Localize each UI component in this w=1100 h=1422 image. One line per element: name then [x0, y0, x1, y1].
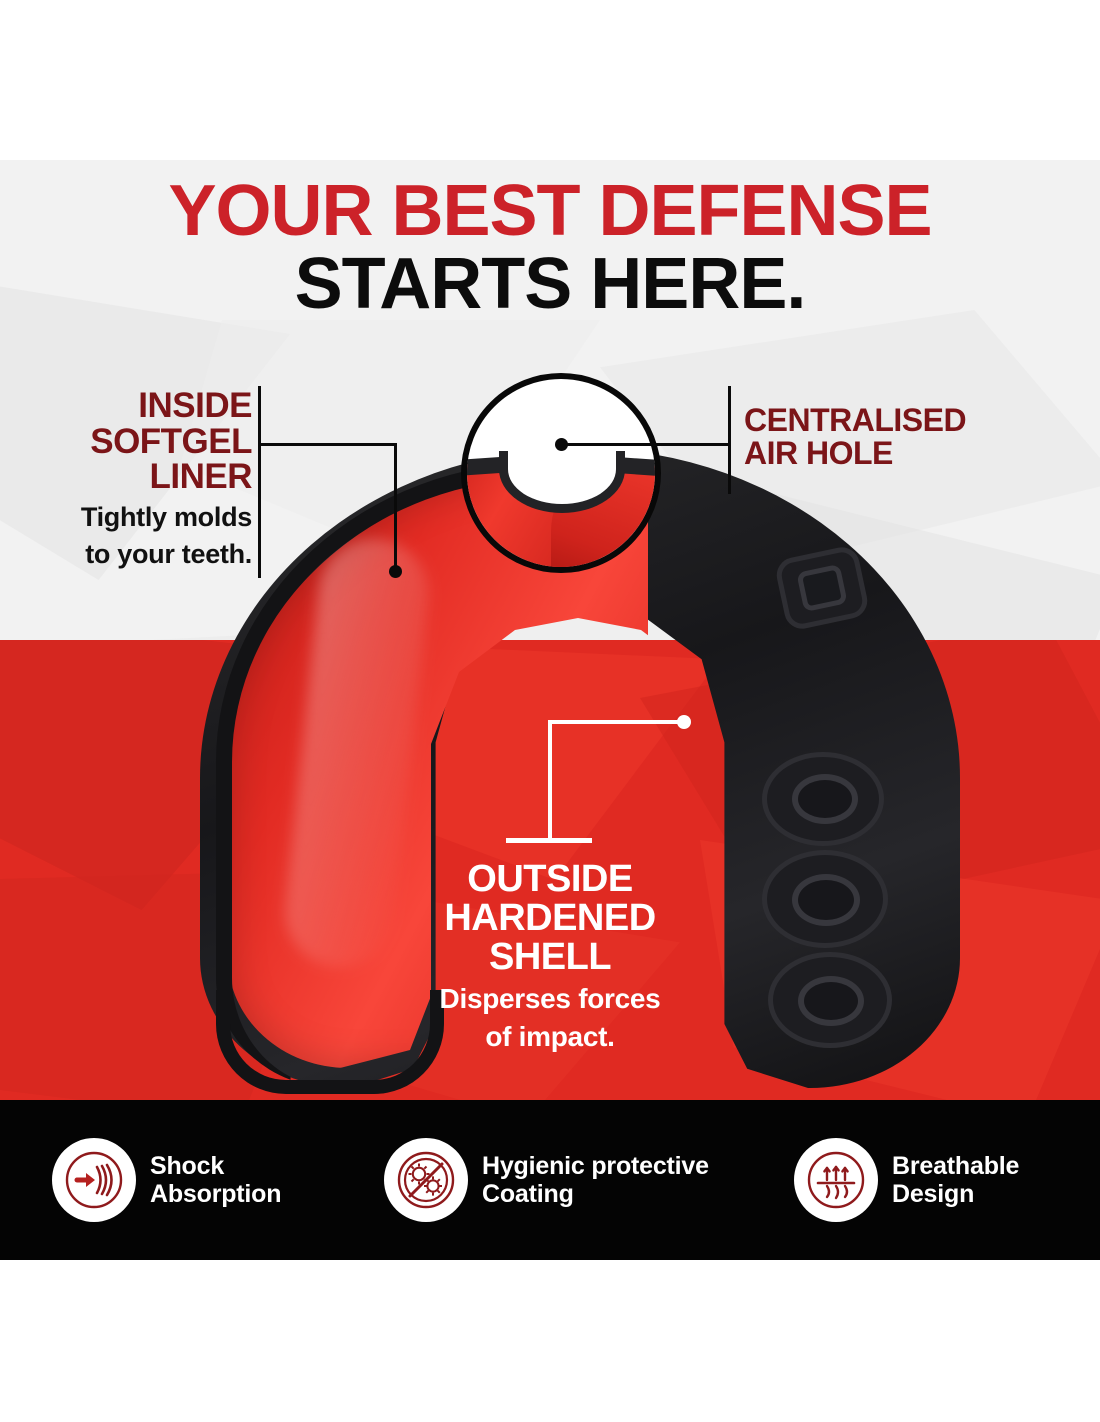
headline: YOUR BEST DEFENSE STARTS HERE.: [0, 176, 1100, 322]
feature-label: Hygienic protective Coating: [482, 1152, 709, 1208]
callout-title-line-2: SOFTGEL: [0, 424, 252, 460]
leader-line-shell-vertical: [548, 720, 552, 840]
leader-line-left-drop: [394, 443, 397, 571]
callout-title-line-1: OUTSIDE: [380, 860, 720, 899]
callout-title-line-3: LINER: [0, 459, 252, 495]
callout-centralised-air-hole: CENTRALISED AIR HOLE: [744, 404, 1084, 469]
feature-strip: Shock Absorption Hyg: [0, 1100, 1100, 1260]
leader-line-shell-horizontal: [548, 720, 682, 724]
callout-softgel-liner: INSIDE SOFTGEL LINER Tightly molds to yo…: [0, 388, 252, 568]
background-bottom-white: [0, 1260, 1100, 1422]
leader-line-left-horizontal: [258, 443, 396, 446]
callout-title-line-3: SHELL: [380, 938, 720, 977]
callout-title-line-1: CENTRALISED: [744, 404, 1084, 437]
feature-label-line-2: Coating: [482, 1180, 709, 1208]
leader-line-right-vertical: [728, 386, 731, 494]
leader-dot-shell: [677, 715, 691, 729]
airflow-icon: [794, 1138, 878, 1222]
callout-title-line-1: INSIDE: [0, 388, 252, 424]
background-top-white: [0, 0, 1100, 160]
callout-sub-line-2: of impact.: [380, 1022, 720, 1052]
headline-line-2: STARTS HERE.: [0, 247, 1100, 323]
product-infographic: YOUR BEST DEFENSE STARTS HERE.: [0, 0, 1100, 1422]
feature-label: Breathable Design: [892, 1152, 1019, 1208]
leader-dot-airhole: [555, 438, 568, 451]
feature-breathable-design: Breathable Design: [794, 1138, 1084, 1222]
feature-hygienic-coating: Hygienic protective Coating: [384, 1138, 784, 1222]
shock-absorption-icon: [52, 1138, 136, 1222]
shell-emboss-oval-inner: [792, 874, 860, 926]
feature-label-line-1: Breathable: [892, 1152, 1019, 1180]
leader-line-airhole-horizontal: [560, 443, 730, 446]
feature-label-line-1: Shock: [150, 1152, 281, 1180]
shell-emboss-oval-inner: [792, 774, 858, 824]
feature-shock-absorption: Shock Absorption: [52, 1138, 372, 1222]
callout-sub-line-2: to your teeth.: [0, 540, 252, 569]
leader-dot-softgel: [389, 565, 402, 578]
callout-title-line-2: HARDENED: [380, 899, 720, 938]
callout-sub-line-1: Tightly molds: [0, 503, 252, 532]
feature-label: Shock Absorption: [150, 1152, 281, 1208]
callout-hardened-shell: OUTSIDE HARDENED SHELL Disperses forces …: [380, 860, 720, 1052]
feature-label-line-1: Hygienic protective: [482, 1152, 709, 1180]
no-germs-icon: [384, 1138, 468, 1222]
feature-label-line-2: Design: [892, 1180, 1019, 1208]
air-hole-magnifier: [461, 373, 661, 573]
feature-label-line-2: Absorption: [150, 1180, 281, 1208]
callout-sub-line-1: Disperses forces: [380, 984, 720, 1014]
magnifier-detail: [461, 435, 661, 573]
callout-title-line-2: AIR HOLE: [744, 437, 1084, 470]
leader-line-left-vertical: [258, 386, 261, 578]
headline-line-1: YOUR BEST DEFENSE: [0, 176, 1100, 247]
shell-emboss-oval-inner: [798, 976, 864, 1026]
leader-line-shell-bar: [506, 838, 592, 843]
